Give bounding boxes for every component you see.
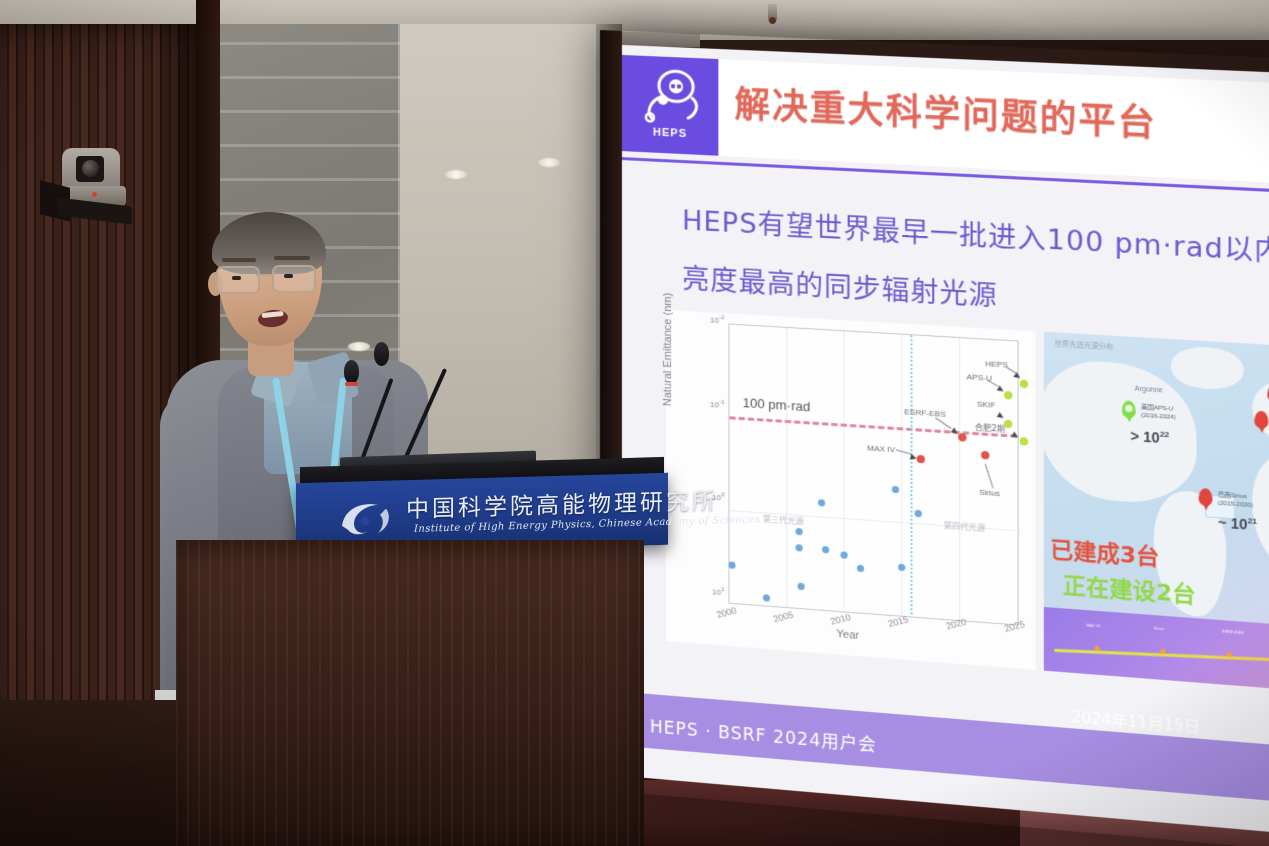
map-label-apsu: 美国APS-U(2016-2024) xyxy=(1141,403,1176,422)
chart-point-hefei2 xyxy=(1020,437,1028,446)
chart-point xyxy=(892,486,899,494)
map-caption-built: 已建成3台 xyxy=(1050,531,1159,572)
map-landmass-greenland xyxy=(1171,345,1244,391)
camera-status-led-icon xyxy=(92,192,97,197)
chart-x-tick: 2010 xyxy=(829,612,852,627)
chart-x-tick: 2000 xyxy=(715,605,737,620)
speaker-eye-left xyxy=(232,276,241,280)
chart-gridline xyxy=(959,338,960,620)
timeline-item-label: MAX IV xyxy=(1086,622,1100,628)
slide-footer-bar xyxy=(622,692,1269,804)
emittance-chart: Natural Emittance (nm) Year 10-2 10-1 10… xyxy=(666,310,1035,670)
glasses-bridge xyxy=(256,274,274,276)
map-pin-esrf xyxy=(1254,410,1268,429)
chart-point-sirius xyxy=(981,451,989,460)
chart-annotation-skif: SKIF xyxy=(977,399,996,409)
mic-head-back xyxy=(374,342,389,366)
glasses-lens-left xyxy=(216,266,260,294)
map-panel-title: 世界先进光源分布 xyxy=(1054,338,1113,352)
chart-x-axis-label: Year xyxy=(836,628,859,642)
speaker-brow-right xyxy=(274,256,310,260)
chart-annotation-heps: HEPS xyxy=(985,359,1008,370)
mic-led-ring-front xyxy=(345,382,358,386)
timeline-node xyxy=(1226,652,1231,658)
chart-point xyxy=(915,510,922,518)
slide-body-line-1: HEPS有望世界最早一批进入100 pm·rad以内 xyxy=(682,198,1269,269)
ceiling-downlight xyxy=(445,170,467,179)
heps-logo-icon xyxy=(640,66,702,129)
chart-point xyxy=(840,551,847,559)
chart-point xyxy=(857,565,864,573)
chart-point-maxiv xyxy=(917,455,925,464)
map-pin-apsu xyxy=(1122,400,1136,418)
chart-plot-area xyxy=(728,324,1018,626)
chart-era-divider xyxy=(910,335,912,614)
chart-point-apsu xyxy=(1004,391,1012,400)
chart-point xyxy=(795,528,802,536)
mic-head-front xyxy=(344,360,359,384)
camera-lens-icon xyxy=(82,160,99,177)
ihep-emblem-icon xyxy=(338,494,396,542)
map-pin-sirius xyxy=(1199,488,1213,507)
slide: HEPS 解决重大科学问题的平台 HEPS有望世界最早一批进入100 pm·ra… xyxy=(622,45,1269,835)
chart-annotation-maxiv: MAX IV xyxy=(867,443,895,454)
timeline-item-label: Sirius xyxy=(1154,625,1165,631)
chart-gridline xyxy=(844,331,845,611)
projection-screen: HEPS 解决重大科学问题的平台 HEPS有望世界最早一批进入100 pm·ra… xyxy=(600,30,1269,846)
chart-gridline xyxy=(786,328,787,607)
map-brightness-apsu: > 1022 xyxy=(1130,428,1169,447)
heps-logo-block: HEPS xyxy=(622,55,718,156)
chart-point xyxy=(822,546,829,554)
photo-scene: HEPS 解决重大科学问题的平台 HEPS有望世界最早一批进入100 pm·ra… xyxy=(0,0,1269,846)
chart-y-tick: 10-2 xyxy=(690,313,724,325)
timeline-graphic: MAX IV Sirius ESRF-EBS xyxy=(1044,607,1269,691)
chart-point-heps xyxy=(1020,380,1028,389)
chart-point xyxy=(763,594,770,602)
chart-point xyxy=(798,583,805,591)
chart-point xyxy=(795,544,802,552)
chart-y-tick: 101 xyxy=(690,585,724,597)
slide-body-line-2: 亮度最高的同步辐射光源 xyxy=(682,256,998,313)
glasses-lens-right xyxy=(272,265,316,293)
chart-y-axis-label: Natural Emittance (nm) xyxy=(662,292,674,406)
timeline-item-label: ESRF-EBS xyxy=(1222,628,1243,635)
ceiling-sprinkler-icon xyxy=(768,4,777,21)
podium-body xyxy=(176,540,644,846)
chart-point-esrf xyxy=(958,433,966,442)
timeline-node xyxy=(1094,646,1099,652)
chart-point xyxy=(728,561,735,569)
map-landmass-africa xyxy=(1252,452,1269,571)
timeline-node xyxy=(1160,649,1165,655)
map-site-label-argonne: Argonne xyxy=(1135,384,1163,395)
ptz-camera xyxy=(40,148,140,222)
chart-x-tick: 2015 xyxy=(887,614,910,629)
world-map-panel: 世界先进光源分布 美国APS-U(2016-2024) > 1022 Argon… xyxy=(1044,332,1269,692)
chart-point xyxy=(818,499,825,507)
chart-annotation-hefei2: 合肥2期 xyxy=(975,422,1005,435)
chart-annotation-sirius: Sirius xyxy=(979,488,1000,499)
chart-x-tick: 2005 xyxy=(772,610,795,625)
chart-point-skif xyxy=(1004,420,1012,429)
map-label-sirius: 巴西Sirius(2015-2020) xyxy=(1218,491,1253,510)
ceiling-downlight xyxy=(538,158,560,167)
chart-point xyxy=(898,564,905,572)
heps-logo-text: HEPS xyxy=(622,125,718,142)
map-brightness-sirius: ~ 1021 xyxy=(1218,514,1257,533)
map-landmass-north-america xyxy=(1044,358,1197,506)
speaker-eye-right xyxy=(284,274,293,278)
speaker-brow-left xyxy=(222,258,256,262)
chart-gridline xyxy=(901,335,902,616)
chart-y-tick: 10-1 xyxy=(690,398,724,410)
